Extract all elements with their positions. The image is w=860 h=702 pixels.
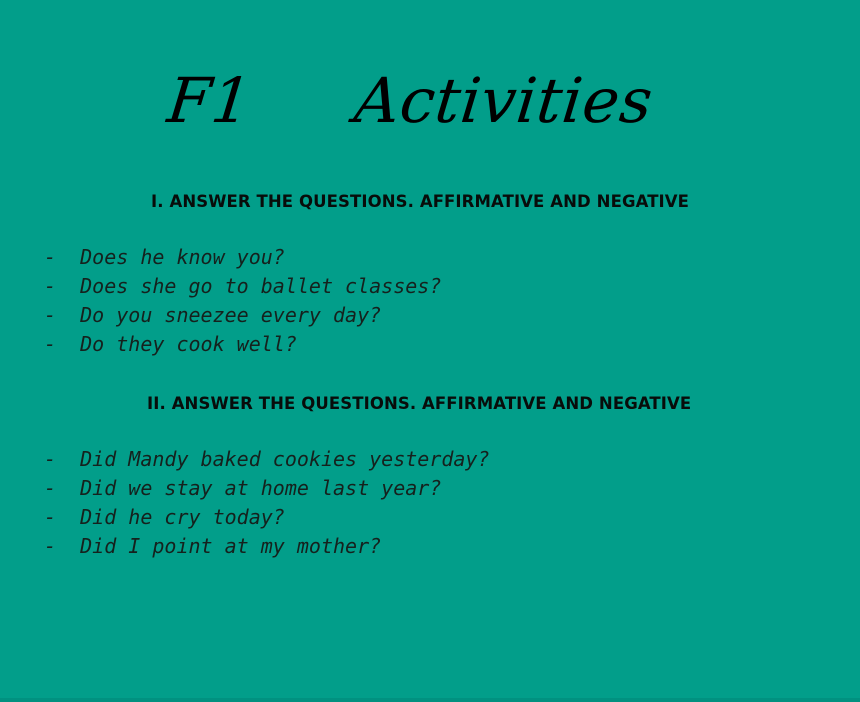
title-part-activities: Activities (352, 70, 656, 132)
section-heading-1: I. ANSWER THE QUESTIONS. AFFIRMATIVE AND… (151, 192, 689, 211)
question-item: - Did he cry today? (44, 503, 490, 532)
question-item: - Do they cook well? (44, 330, 441, 359)
bottom-band (0, 698, 860, 702)
page-title: F1 Activities (0, 58, 860, 144)
slide-canvas: F1 Activities I. ANSWER THE QUESTIONS. A… (0, 0, 860, 702)
question-item: - Did we stay at home last year? (44, 474, 490, 503)
question-item: - Do you sneezee every day? (44, 301, 441, 330)
question-item: - Does she go to ballet classes? (44, 272, 441, 301)
question-list-1: - Does he know you? - Does she go to bal… (44, 243, 441, 359)
question-list-2: - Did Mandy baked cookies yesterday? - D… (44, 445, 490, 561)
section-heading-2: II. ANSWER THE QUESTIONS. AFFIRMATIVE AN… (147, 394, 691, 413)
question-item: - Did Mandy baked cookies yesterday? (44, 445, 490, 474)
title-part-f1: F1 (165, 70, 255, 132)
question-item: - Did I point at my mother? (44, 532, 490, 561)
question-item: - Does he know you? (44, 243, 441, 272)
